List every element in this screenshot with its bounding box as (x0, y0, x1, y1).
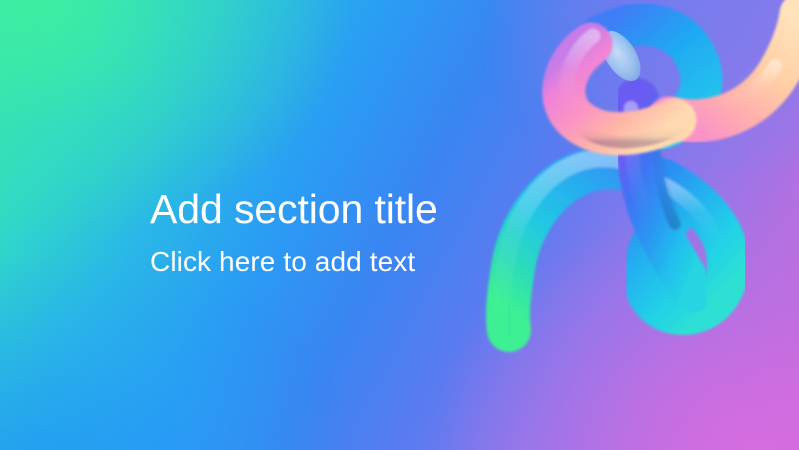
slide-text-block: Add section title Click here to add text (150, 186, 580, 278)
background-glow-bottom-left (0, 261, 336, 450)
section-subtitle[interactable]: Click here to add text (150, 246, 580, 278)
presentation-slide: Add section title Click here to add text (0, 0, 799, 450)
section-title[interactable]: Add section title (150, 186, 580, 232)
background-glow-top-right (495, 0, 799, 171)
